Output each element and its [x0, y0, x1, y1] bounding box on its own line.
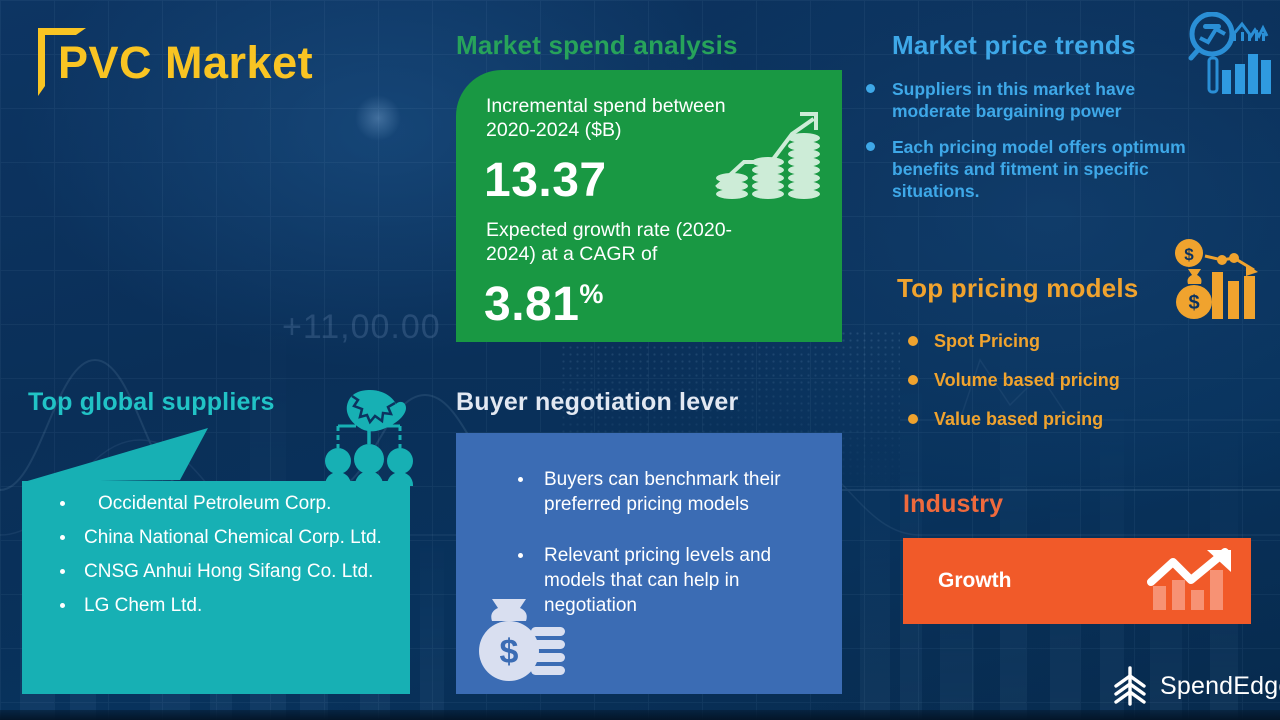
top-pricing-models-title: Top pricing models: [897, 273, 1138, 304]
list-item: Volume based pricing: [900, 369, 1220, 391]
list-item: Each pricing model offers optimum benefi…: [862, 136, 1202, 202]
market-spend-analysis-title: Market spend analysis: [456, 30, 738, 61]
page-header: PVC Market: [38, 22, 293, 67]
globe-network-icon: [322, 386, 418, 486]
buyer-negotiation-lever-card: Buyers can benchmark their preferred pri…: [456, 433, 842, 694]
top-global-suppliers-title: Top global suppliers: [28, 388, 275, 417]
buyer-negotiation-lever-title: Buyer negotiation lever: [456, 388, 738, 417]
cagr-percent-sign: %: [579, 279, 604, 309]
coin-stacks-growth-icon: [714, 110, 822, 204]
list-item: CNSG Anhui Hong Sifang Co. Ltd.: [36, 559, 408, 584]
list-item: LG Chem Ltd.: [36, 593, 408, 618]
spendedge-logo: SpendEdge ™: [1108, 664, 1280, 708]
list-item: Value based pricing: [900, 408, 1220, 430]
list-item: Suppliers in this market have moderate b…: [862, 78, 1202, 122]
logo-text: SpendEdge: [1160, 672, 1280, 701]
magnifier-bar-chart-icon: [1185, 12, 1273, 98]
cagr-value-group: 3.81%: [484, 277, 604, 332]
status-badge-label: Growth: [938, 569, 1012, 593]
svg-text:$: $: [1184, 245, 1194, 264]
top-global-suppliers-card: Occidental Petroleum Corp. China Nationa…: [22, 481, 410, 694]
industry-title: Industry: [903, 490, 1003, 519]
page-title: PVC Market: [58, 40, 313, 85]
top-pricing-models-list: Spot Pricing Volume based pricing Value …: [900, 330, 1220, 447]
svg-text:$: $: [1188, 292, 1199, 314]
suppliers-list: Occidental Petroleum Corp. China Nationa…: [36, 491, 408, 627]
market-price-trends-title: Market price trends: [892, 30, 1136, 61]
market-spend-analysis-card: Incremental spend between 2020-2024 ($B)…: [456, 70, 842, 342]
list-item: China National Chemical Corp. Ltd.: [36, 525, 408, 550]
cagr-value: 3.81: [484, 278, 579, 331]
spendedge-chevron-logo-icon: [1108, 664, 1152, 708]
incremental-spend-value: 13.37: [484, 153, 607, 208]
list-item: Occidental Petroleum Corp.: [36, 491, 408, 516]
money-bag-declining-chart-icon: $ $: [1172, 236, 1272, 320]
market-price-trends-list: Suppliers in this market have moderate b…: [862, 78, 1202, 216]
list-item: Spot Pricing: [900, 330, 1220, 352]
industry-status-badge: Growth: [903, 538, 1251, 624]
svg-text:$: $: [500, 633, 519, 671]
suppliers-callout-pointer: [0, 420, 240, 490]
upward-trend-arrow-icon: [1147, 548, 1239, 614]
cagr-label: Expected growth rate (2020-2024) at a CA…: [486, 218, 776, 266]
list-item: Buyers can benchmark their preferred pri…: [486, 467, 826, 517]
money-bag-coins-icon: $: [474, 595, 570, 683]
